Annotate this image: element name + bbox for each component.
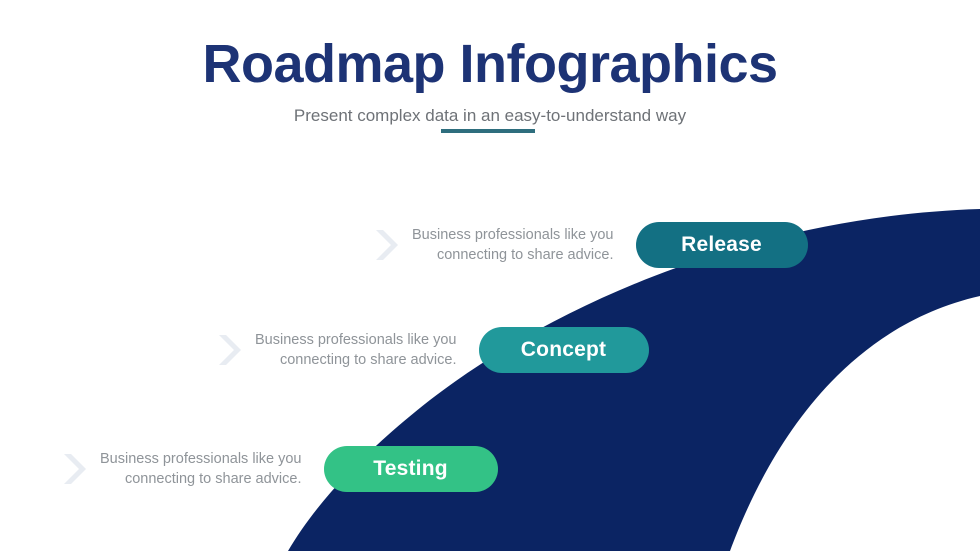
chevron-right-icon (60, 450, 90, 488)
chevron-right-icon (372, 226, 402, 264)
milestone-release-pill[interactable]: Release (636, 222, 808, 268)
milestone-testing-caption: Business professionals like you connecti… (100, 449, 302, 489)
milestone-testing-pill[interactable]: Testing (324, 446, 498, 492)
milestone-concept-label: Concept (521, 338, 606, 362)
milestone-testing-label: Testing (373, 457, 448, 481)
milestone-release[interactable]: Business professionals like you connecti… (372, 222, 808, 268)
slide-canvas: Roadmap Infographics Present complex dat… (0, 0, 980, 551)
chevron-right-icon (215, 331, 245, 369)
milestone-release-label: Release (681, 233, 762, 257)
milestone-concept-caption: Business professionals like you connecti… (255, 330, 457, 370)
milestone-testing-caption-group: Business professionals like you connecti… (60, 449, 302, 489)
milestone-release-caption: Business professionals like you connecti… (412, 225, 614, 265)
milestone-concept-pill[interactable]: Concept (479, 327, 649, 373)
milestone-testing[interactable]: Business professionals like you connecti… (60, 446, 498, 492)
milestone-concept[interactable]: Business professionals like you connecti… (215, 327, 649, 373)
milestone-release-caption-group: Business professionals like you connecti… (372, 225, 614, 265)
milestone-concept-caption-group: Business professionals like you connecti… (215, 330, 457, 370)
